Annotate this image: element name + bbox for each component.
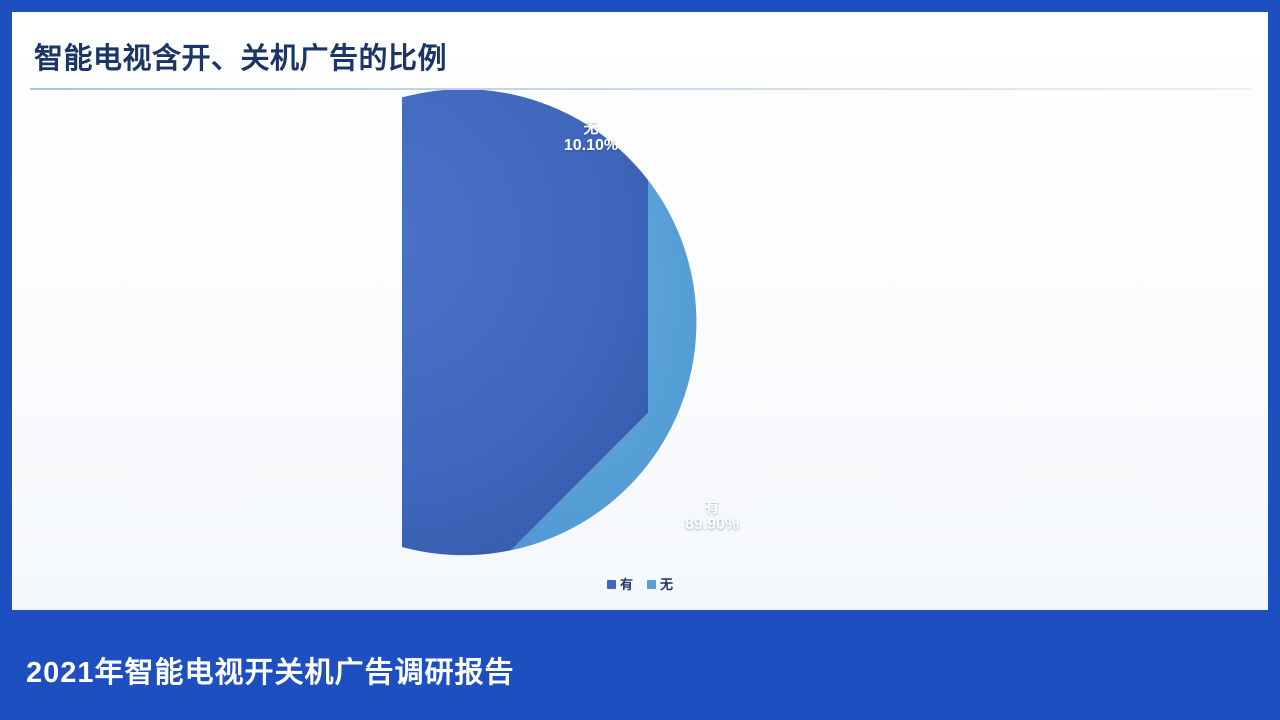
pie-label-wu: 无 10.10% <box>531 120 651 156</box>
legend-item-you[interactable]: 有 <box>607 578 633 591</box>
legend-swatch-icon-you <box>607 580 616 589</box>
slide-content-card: 智能电视含开、关机广告的比例 <box>12 12 1268 610</box>
pie-chart-svg <box>402 90 882 570</box>
footer-banner: 2021年智能电视开关机广告调研报告 <box>0 620 1280 720</box>
chart-legend: 有 无 <box>12 578 1268 591</box>
legend-label-wu: 无 <box>660 578 673 591</box>
legend-item-wu[interactable]: 无 <box>647 578 673 591</box>
pie-label-you-value: 89.90% <box>652 516 772 534</box>
legend-swatch-icon-wu <box>647 580 656 589</box>
pie-label-you-name: 有 <box>652 499 772 516</box>
footer-banner-title: 2021年智能电视开关机广告调研报告 <box>26 649 515 691</box>
legend-label-you: 有 <box>620 578 633 591</box>
pie-chart: 无 10.10% 有 89.90% 有 无 <box>12 12 1268 610</box>
slide-frame: 智能电视含开、关机广告的比例 <box>0 0 1280 720</box>
pie-label-wu-value: 10.10% <box>531 137 651 155</box>
pie-label-you: 有 89.90% <box>652 499 772 535</box>
pie-label-wu-name: 无 <box>531 120 651 137</box>
